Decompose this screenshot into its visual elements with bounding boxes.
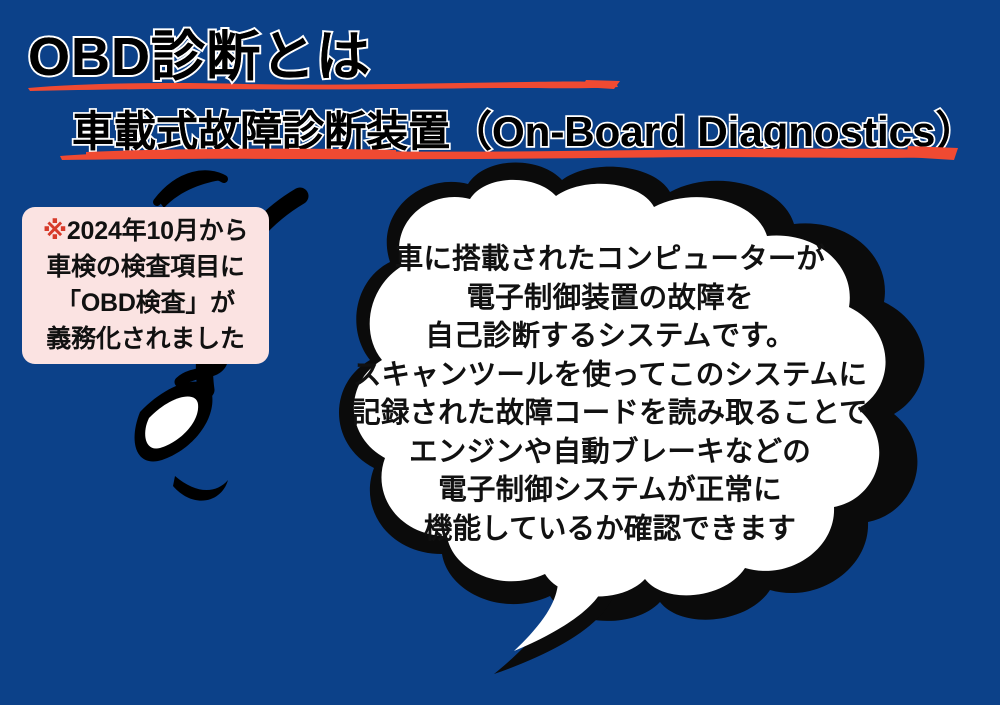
bubble-line: 電子制御システムが正常に [300, 471, 920, 510]
speech-bubble-text: 車に搭載されたコンピューターが 電子制御装置の故障を 自己診断するシステムです。… [300, 240, 920, 548]
bubble-line: 電子制御装置の故障を [300, 279, 920, 318]
bubble-line: 機能しているか確認できます [300, 510, 920, 549]
note-line: 義務化されました [22, 321, 269, 357]
kome-mark-icon: ※ [43, 217, 67, 245]
bubble-line: 記録された故障コードを読み取ることで [300, 394, 920, 433]
right-eyebrow-stroke-icon [157, 174, 224, 202]
speech-bubble-tail [494, 566, 615, 674]
speech-bubble-tail-fill [514, 562, 607, 651]
bubble-line: エンジンや自動ブレーキなどの [300, 433, 920, 472]
note-line: 「OBD検査」が [22, 285, 269, 321]
headline-block: OBD診断とは OBD診断とは 車載式故障診断装置（On-Board Diagn… [0, 0, 1000, 170]
poster-canvas: 車に搭載されたコンピューターが 電子制御装置の故障を 自己診断するシステムです。… [0, 0, 1000, 705]
red-brush-underline-icon [56, 146, 960, 162]
note-line: ※2024年10月から [22, 213, 269, 249]
note-line: 車検の検査項目に [22, 249, 269, 285]
note-line-text: 2024年10月から [67, 217, 248, 245]
note-box: ※2024年10月から 車検の検査項目に 「OBD検査」が 義務化されました [22, 207, 269, 364]
chin-line-icon [173, 476, 228, 501]
open-mouth-icon [135, 382, 213, 462]
bubble-line: スキャンツールを使ってこのシステムに [300, 356, 920, 395]
bubble-line: 自己診断するシステムです。 [300, 317, 920, 356]
page-title: OBD診断とは [28, 12, 371, 91]
bubble-line: 車に搭載されたコンピューターが [300, 240, 920, 279]
mouth-inner-icon [145, 396, 198, 448]
right-eyebrow-icon [158, 176, 222, 208]
